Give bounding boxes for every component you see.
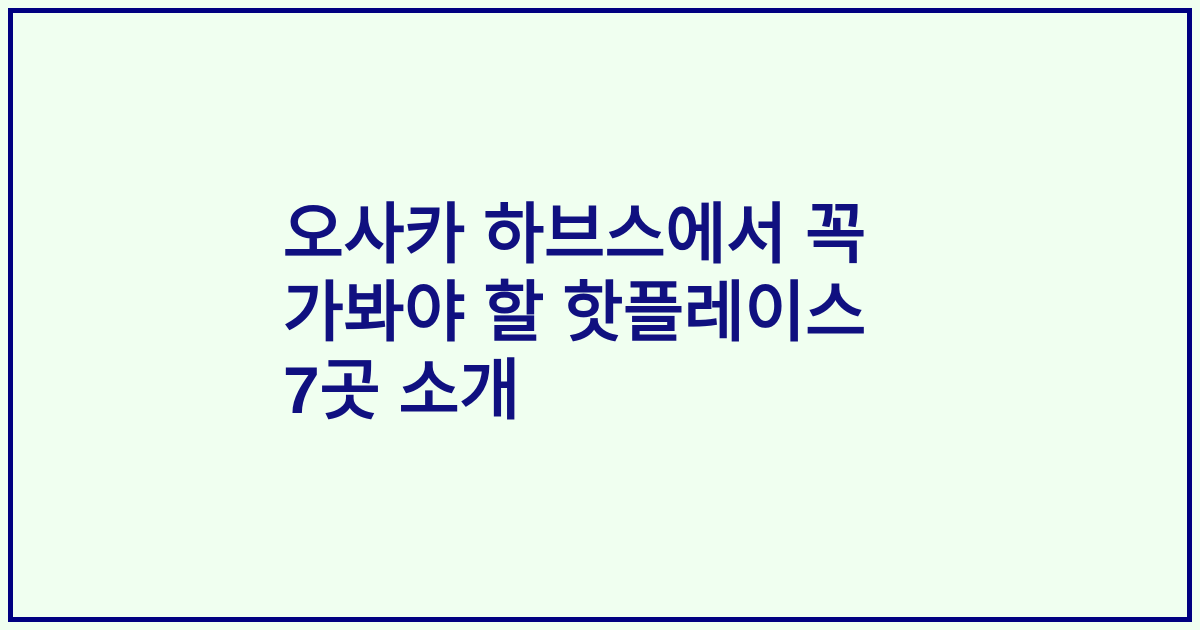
title-block: 오사카 하브스에서 꼭 가봐야 할 핫플레이스 7곳 소개: [13, 195, 1187, 429]
thumbnail-card: 오사카 하브스에서 꼭 가봐야 할 핫플레이스 7곳 소개: [0, 0, 1200, 630]
card-border-frame: 오사카 하브스에서 꼭 가봐야 할 핫플레이스 7곳 소개: [8, 8, 1192, 622]
page-title: 오사카 하브스에서 꼭 가봐야 할 핫플레이스 7곳 소개: [283, 195, 943, 429]
